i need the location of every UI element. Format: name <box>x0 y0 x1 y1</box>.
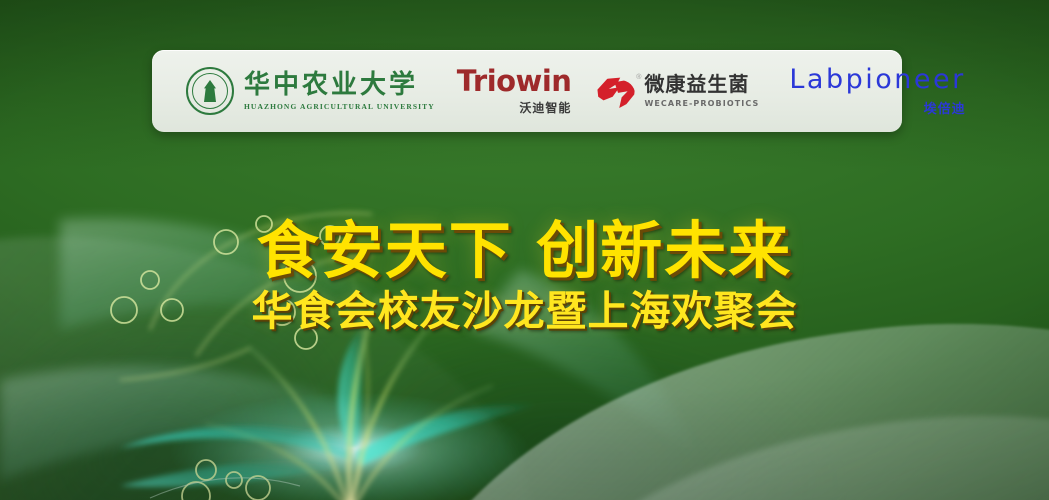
registered-trademark-icon: ® <box>636 74 641 81</box>
page-title: 食安天下 创新未来 <box>0 218 1049 283</box>
logo-labpioneer: Labpioneer 埃倍迪 <box>759 50 965 132</box>
logo-hzau: 华中农业大学 HUAZHONG AGRICULTURAL UNIVERSITY <box>152 50 435 132</box>
labpioneer-wordmark-icon: Labpioneer <box>789 66 965 93</box>
logo-labpioneer-name-cn: 埃倍迪 <box>924 98 966 117</box>
logo-wecare: ® 微康益生菌 WECARE-PROBIOTICS <box>571 50 759 132</box>
sponsor-logo-bar: 华中农业大学 HUAZHONG AGRICULTURAL UNIVERSITY … <box>152 50 902 132</box>
triowin-wordmark-icon: Triowin <box>457 67 572 96</box>
logo-hzau-name-cn: 华中农业大学 <box>244 72 435 98</box>
logo-hzau-name-en: HUAZHONG AGRICULTURAL UNIVERSITY <box>244 103 435 111</box>
poster-canvas: 华中农业大学 HUAZHONG AGRICULTURAL UNIVERSITY … <box>0 0 1049 500</box>
logo-wecare-name-en: WECARE-PROBIOTICS <box>644 100 759 108</box>
logo-wecare-text: 微康益生菌 WECARE-PROBIOTICS <box>644 74 759 108</box>
logo-hzau-text: 华中农业大学 HUAZHONG AGRICULTURAL UNIVERSITY <box>244 72 435 111</box>
headline-block: 食安天下 创新未来 华食会校友沙龙暨上海欢聚会 <box>0 218 1049 334</box>
page-subtitle: 华食会校友沙龙暨上海欢聚会 <box>0 289 1049 334</box>
university-seal-icon <box>186 67 234 115</box>
logo-wecare-name-cn: 微康益生菌 <box>644 74 759 94</box>
logo-triowin-name-cn: 沃迪智能 <box>519 99 571 116</box>
logo-triowin: Triowin 沃迪智能 <box>435 50 572 132</box>
wecare-swoosh-icon: ® <box>597 74 635 108</box>
